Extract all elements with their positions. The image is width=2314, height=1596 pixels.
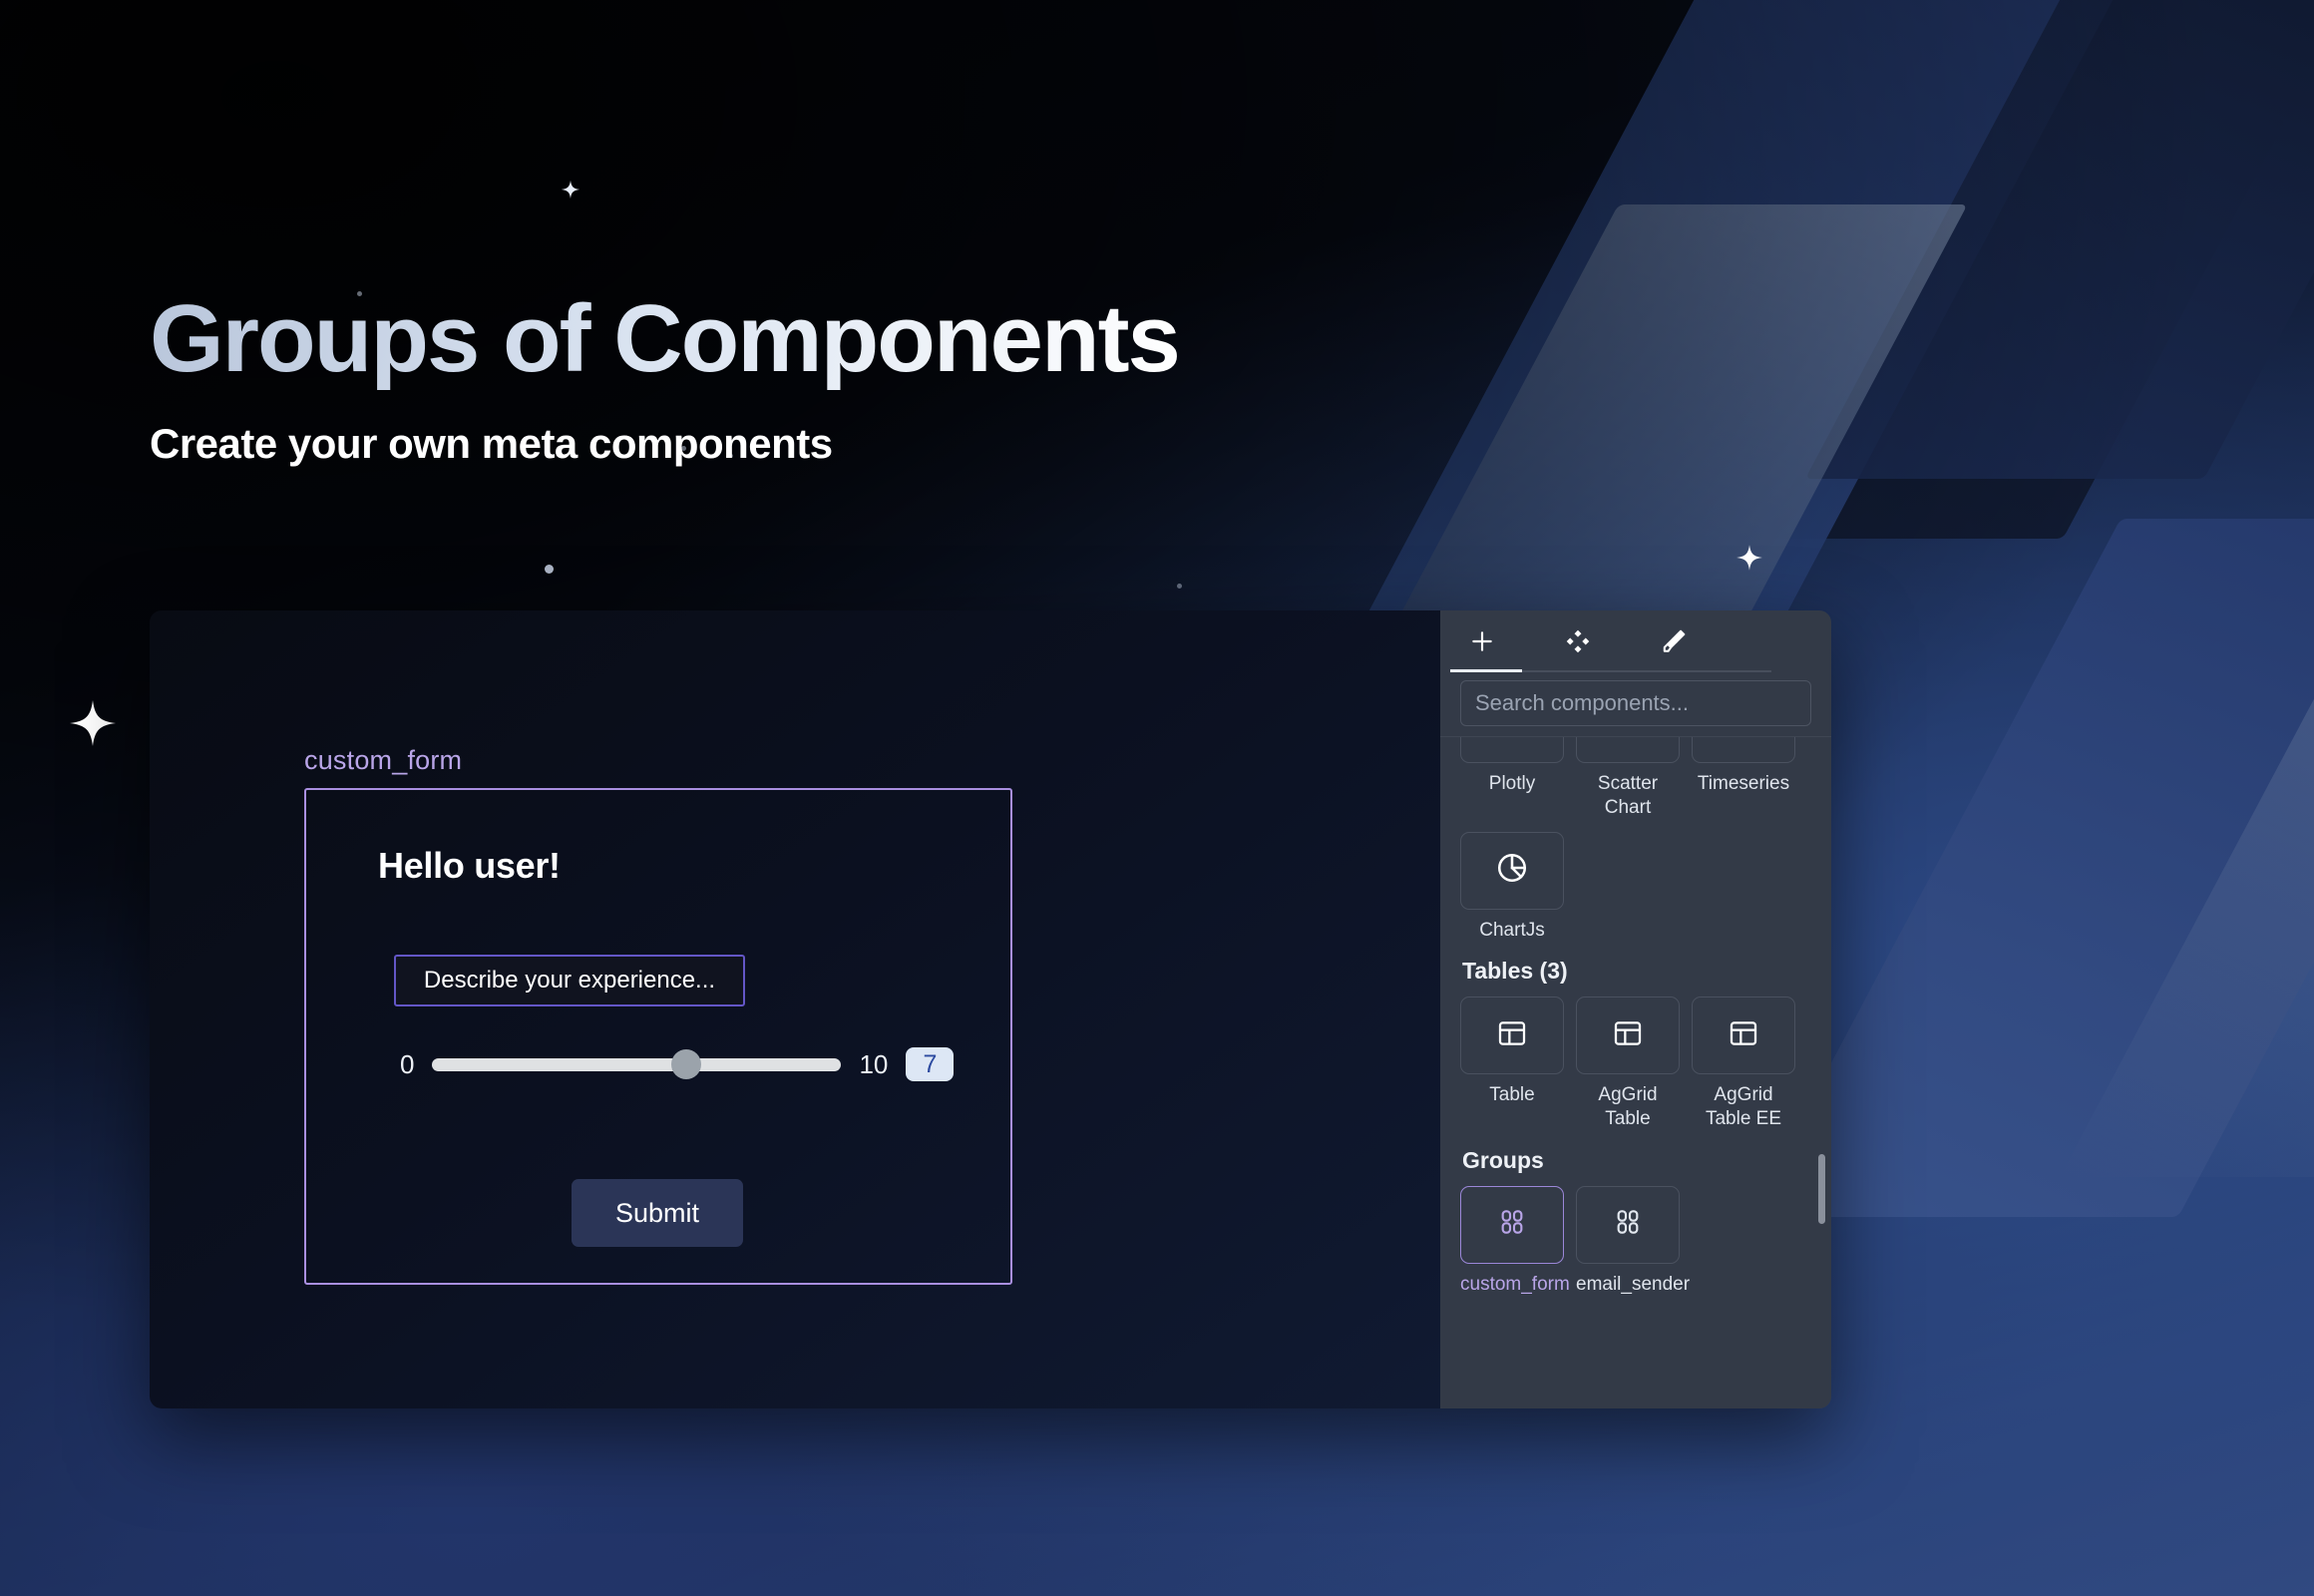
tables-grid: Table AgGrid Table	[1460, 997, 1811, 1131]
active-tab-indicator	[1450, 669, 1522, 672]
palette-item-plotly[interactable]: Plotly	[1460, 736, 1564, 820]
palette-item-email-sender[interactable]: email_sender	[1576, 1186, 1680, 1297]
palette-label: Timeseries	[1692, 772, 1795, 796]
styles-tab[interactable]	[1650, 618, 1698, 664]
bg-dot	[545, 565, 554, 574]
slider-track[interactable]	[432, 1058, 841, 1071]
sparkle-icon	[561, 180, 580, 199]
sidebar-tabs	[1440, 610, 1831, 672]
palette-label: Table	[1460, 1083, 1564, 1107]
page-title: Groups of Components	[150, 289, 1179, 390]
palette-item-aggrid-table[interactable]: AgGrid Table	[1576, 997, 1680, 1131]
diamonds-icon	[1565, 628, 1591, 654]
table-icon	[1612, 1017, 1644, 1054]
slider-value-badge: 7	[906, 1047, 954, 1081]
app-window: custom_form Hello user! Describe your ex…	[150, 610, 1831, 1408]
charts-grid: Plotly Scatter Chart	[1460, 736, 1811, 942]
tables-section-title: Tables (3)	[1462, 958, 1811, 985]
slider-max-label: 10	[859, 1049, 888, 1080]
palette-label: email_sender	[1576, 1273, 1680, 1297]
slider-thumb[interactable]	[671, 1049, 701, 1079]
palette-label: custom_form	[1460, 1273, 1564, 1297]
palette-card[interactable]	[1460, 736, 1564, 763]
sparkle-icon	[68, 698, 118, 748]
page-subtitle: Create your own meta components	[150, 420, 1179, 468]
palette-card[interactable]	[1576, 997, 1680, 1074]
experience-input[interactable]: Describe your experience...	[394, 955, 745, 1006]
paintbrush-icon	[1661, 628, 1687, 654]
palette-card[interactable]	[1460, 997, 1564, 1074]
group-icon	[1612, 1206, 1644, 1243]
palette-item-scatter-chart[interactable]: Scatter Chart	[1576, 736, 1680, 820]
group-name-label: custom_form	[304, 745, 1012, 776]
component-palette[interactable]: Plotly Scatter Chart	[1440, 736, 1831, 1408]
palette-card[interactable]	[1460, 832, 1564, 910]
group-boundary[interactable]: Hello user! Describe your experience... …	[304, 788, 1012, 1285]
palette-item-chartjs[interactable]: ChartJs	[1460, 832, 1564, 943]
editor-canvas[interactable]: custom_form Hello user! Describe your ex…	[150, 610, 1440, 1408]
donut-chart-icon	[1495, 736, 1529, 744]
palette-card[interactable]	[1692, 997, 1795, 1074]
palette-label: Scatter Chart	[1576, 772, 1680, 820]
palette-label: ChartJs	[1460, 919, 1564, 943]
group-icon	[1496, 1206, 1528, 1243]
component-sidebar: Plotly Scatter Chart	[1440, 610, 1831, 1408]
table-icon	[1496, 1017, 1528, 1054]
dot-grid-icon	[1727, 736, 1760, 744]
hero-section: Groups of Components Create your own met…	[150, 289, 1179, 468]
add-tab[interactable]	[1458, 618, 1506, 664]
palette-card[interactable]	[1692, 736, 1795, 763]
palette-card[interactable]	[1460, 1186, 1564, 1264]
search-input[interactable]	[1460, 680, 1811, 726]
palette-scrollbar[interactable]	[1818, 1154, 1825, 1224]
palette-label: Plotly	[1460, 772, 1564, 796]
pie-chart-icon	[1495, 851, 1529, 890]
plus-icon	[1469, 628, 1495, 654]
palette-card[interactable]	[1576, 1186, 1680, 1264]
palette-item-timeseries[interactable]: Timeseries	[1692, 736, 1795, 820]
palette-item-custom-form[interactable]: custom_form	[1460, 1186, 1564, 1297]
table-icon	[1728, 1017, 1759, 1054]
groups-section-title: Groups	[1462, 1147, 1811, 1174]
tab-rail	[1522, 670, 1771, 672]
bg-dot	[1177, 584, 1182, 589]
dot-grid-icon	[1611, 736, 1645, 744]
custom-form-group[interactable]: custom_form Hello user! Describe your ex…	[304, 745, 1012, 1285]
palette-label: AgGrid Table	[1576, 1083, 1680, 1131]
slider-min-label: 0	[400, 1049, 414, 1080]
components-tab[interactable]	[1554, 618, 1602, 664]
palette-card[interactable]	[1576, 736, 1680, 763]
palette-item-table[interactable]: Table	[1460, 997, 1564, 1131]
groups-grid: custom_form email_sender	[1460, 1186, 1811, 1297]
search-wrapper	[1440, 672, 1831, 736]
palette-item-aggrid-table-ee[interactable]: AgGrid Table EE	[1692, 997, 1795, 1131]
sparkle-icon	[1735, 544, 1763, 572]
greeting-heading: Hello user!	[378, 845, 561, 887]
submit-button[interactable]: Submit	[572, 1179, 743, 1247]
rating-slider-row[interactable]: 0 10 7	[400, 1047, 954, 1081]
palette-label: AgGrid Table EE	[1692, 1083, 1795, 1131]
